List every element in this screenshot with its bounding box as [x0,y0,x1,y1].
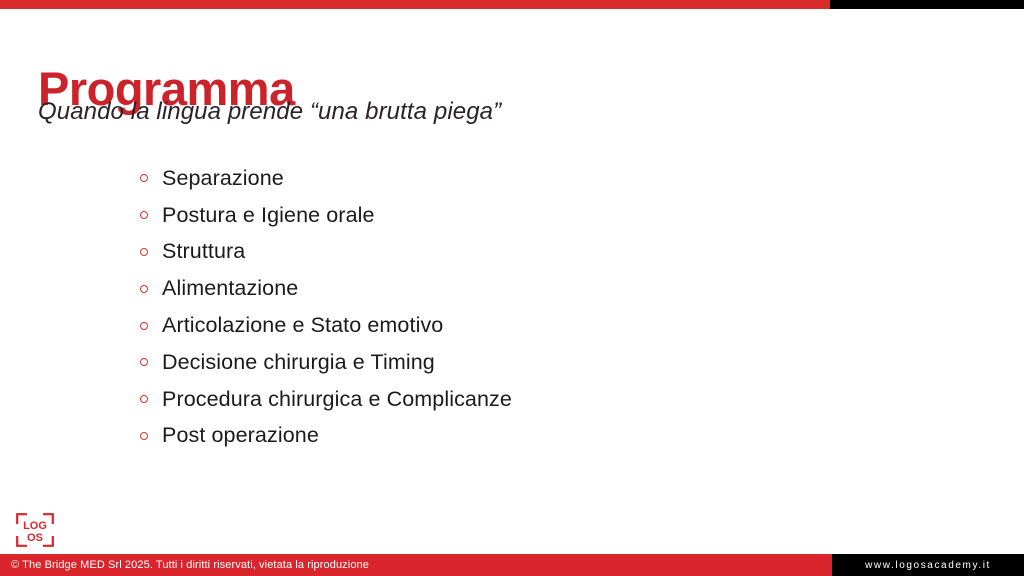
svg-text:LOG: LOG [23,520,47,532]
footer-copyright-area: © The Bridge MED Srl 2025. Tutti i dirit… [0,554,832,576]
circle-bullet-icon [140,358,162,366]
circle-bullet-icon [140,322,162,330]
circle-bullet-icon [140,285,162,293]
list-item: Struttura [140,234,512,271]
list-item-label: Separazione [162,166,284,191]
top-accent-bar [0,0,1024,9]
list-item: Post operazione [140,418,512,455]
footer-website-area: www.logosacademy.it [832,554,1024,576]
slide: Programma Quando la lingua prende “una b… [0,0,1024,576]
list-item-label: Struttura [162,239,245,264]
circle-bullet-icon [140,248,162,256]
footer-bar: © The Bridge MED Srl 2025. Tutti i dirit… [0,554,1024,576]
list-item: Postura e Igiene orale [140,197,512,234]
list-item: Procedura chirurgica e Complicanze [140,381,512,418]
list-item-label: Postura e Igiene orale [162,203,375,228]
list-item-label: Post operazione [162,423,319,448]
list-item-label: Articolazione e Stato emotivo [162,313,443,338]
page-subtitle: Quando la lingua prende “una brutta pieg… [38,98,501,126]
list-item: Articolazione e Stato emotivo [140,307,512,344]
agenda-list: Separazione Postura e Igiene orale Strut… [140,160,512,454]
list-item-label: Decisione chirurgia e Timing [162,350,435,375]
list-item: Separazione [140,160,512,197]
list-item: Alimentazione [140,270,512,307]
footer-copyright-text: © The Bridge MED Srl 2025. Tutti i dirit… [0,559,369,571]
list-item-label: Alimentazione [162,276,298,301]
logos-logo-icon: LOG OS [16,513,54,547]
circle-bullet-icon [140,395,162,403]
top-accent-bar-black-segment [830,0,1024,9]
footer-website-text: www.logosacademy.it [865,560,991,571]
circle-bullet-icon [140,432,162,440]
circle-bullet-icon [140,174,162,182]
top-accent-bar-red-segment [0,0,830,9]
list-item: Decisione chirurgia e Timing [140,344,512,381]
list-item-label: Procedura chirurgica e Complicanze [162,387,512,412]
circle-bullet-icon [140,211,162,219]
svg-text:OS: OS [27,532,43,544]
